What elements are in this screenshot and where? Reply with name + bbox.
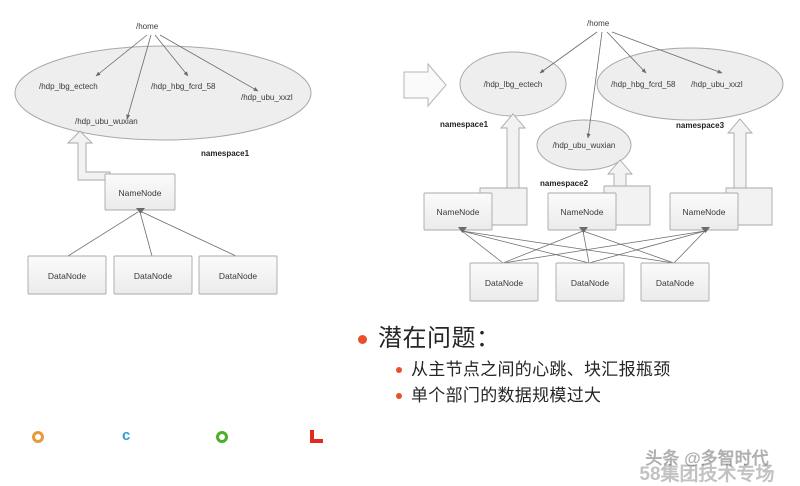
mesh-nn1-dn1 <box>583 231 589 263</box>
edge-r-home-ectech <box>540 32 597 73</box>
mesh-nn2-dn2 <box>674 231 705 263</box>
right-path-label-fcrd: /hdp_hbg_fcrd_58 <box>611 80 676 89</box>
right-namespace3-label: namespace3 <box>676 121 725 130</box>
right-namenode-label-0: NameNode <box>437 207 480 217</box>
left-block-arrow <box>68 131 110 180</box>
bullet-heading-row: 潜在问题： <box>358 324 788 354</box>
blue-c-icon: c <box>122 428 136 444</box>
bullet-dot-icon <box>358 335 367 344</box>
mesh-nn2-dn1 <box>589 231 705 263</box>
edge-nn-dn-2 <box>142 212 236 256</box>
content-bullet-0: 从主节点之间的心跳、块汇报瓶颈 <box>411 358 671 382</box>
right-namenode-label-2: NameNode <box>683 207 726 217</box>
mesh-nn2-dn0 <box>503 231 705 263</box>
right-path-label-wuxian: /hdp_ubu_wuxian <box>553 141 616 150</box>
right-namenode-label-1: NameNode <box>561 207 604 217</box>
right-root-label: /home <box>587 19 610 28</box>
bullet-item-row-1: 单个部门的数据规模过大 <box>396 384 788 408</box>
right-datanode-label-1: DataNode <box>571 278 610 288</box>
right-block-arrow-1 <box>501 114 525 196</box>
transition-arrow-icon <box>404 64 446 106</box>
right-path-label-xxzl: /hdp_ubu_xxzl <box>691 80 743 89</box>
right-path-label-ectech: /hdp_lbg_ectech <box>484 80 543 89</box>
bullet-dot-icon <box>396 393 402 399</box>
left-path-label-3: /hdp_ubu_wuxian <box>75 117 138 126</box>
right-namespace2-label: namespace2 <box>540 179 589 188</box>
orange-ring-icon <box>32 431 44 443</box>
left-path-label-1: /hdp_hbg_fcrd_58 <box>151 82 216 91</box>
right-namespace1-label: namespace1 <box>440 120 489 129</box>
left-diagram-group: /home /hdp_lbg_ectech /hdp_hbg_fcrd_58 /… <box>15 22 311 294</box>
left-datanode-label-1: DataNode <box>134 271 173 281</box>
content-text-block: 潜在问题： 从主节点之间的心跳、块汇报瓶颈 单个部门的数据规模过大 <box>358 324 788 410</box>
left-datanode-label-0: DataNode <box>48 271 87 281</box>
mesh-nn0-dn2 <box>462 231 674 263</box>
edge-nn-dn-1 <box>140 212 152 256</box>
right-block-arrow-3 <box>728 119 752 196</box>
red-corner-icon <box>310 430 323 443</box>
left-path-label-2: /hdp_ubu_xxzl <box>241 93 293 102</box>
edge-nn-dn-0 <box>68 212 138 256</box>
architecture-diagrams: /home /hdp_lbg_ectech /hdp_hbg_fcrd_58 /… <box>0 0 800 484</box>
mesh-nn1-dn2 <box>583 231 674 263</box>
bullet-item-row-0: 从主节点之间的心跳、块汇报瓶颈 <box>396 358 788 382</box>
bullet-dot-icon <box>396 367 402 373</box>
left-root-label: /home <box>136 22 159 31</box>
left-namespace-label: namespace1 <box>201 149 250 158</box>
left-datanode-label-2: DataNode <box>219 271 258 281</box>
content-heading: 潜在问题： <box>378 324 501 354</box>
left-path-label-0: /hdp_lbg_ectech <box>39 82 98 91</box>
green-ring-icon <box>216 431 228 443</box>
left-namenode-label: NameNode <box>119 188 162 198</box>
right-datanode-label-2: DataNode <box>656 278 695 288</box>
slide-canvas: /home /hdp_lbg_ectech /hdp_hbg_fcrd_58 /… <box>0 0 800 484</box>
right-datanode-label-0: DataNode <box>485 278 524 288</box>
right-diagram-group: /home /hdp_lbg_ectech /hdp_hbg_fcrd_58 /… <box>424 19 783 301</box>
content-bullet-1: 单个部门的数据规模过大 <box>411 384 601 408</box>
